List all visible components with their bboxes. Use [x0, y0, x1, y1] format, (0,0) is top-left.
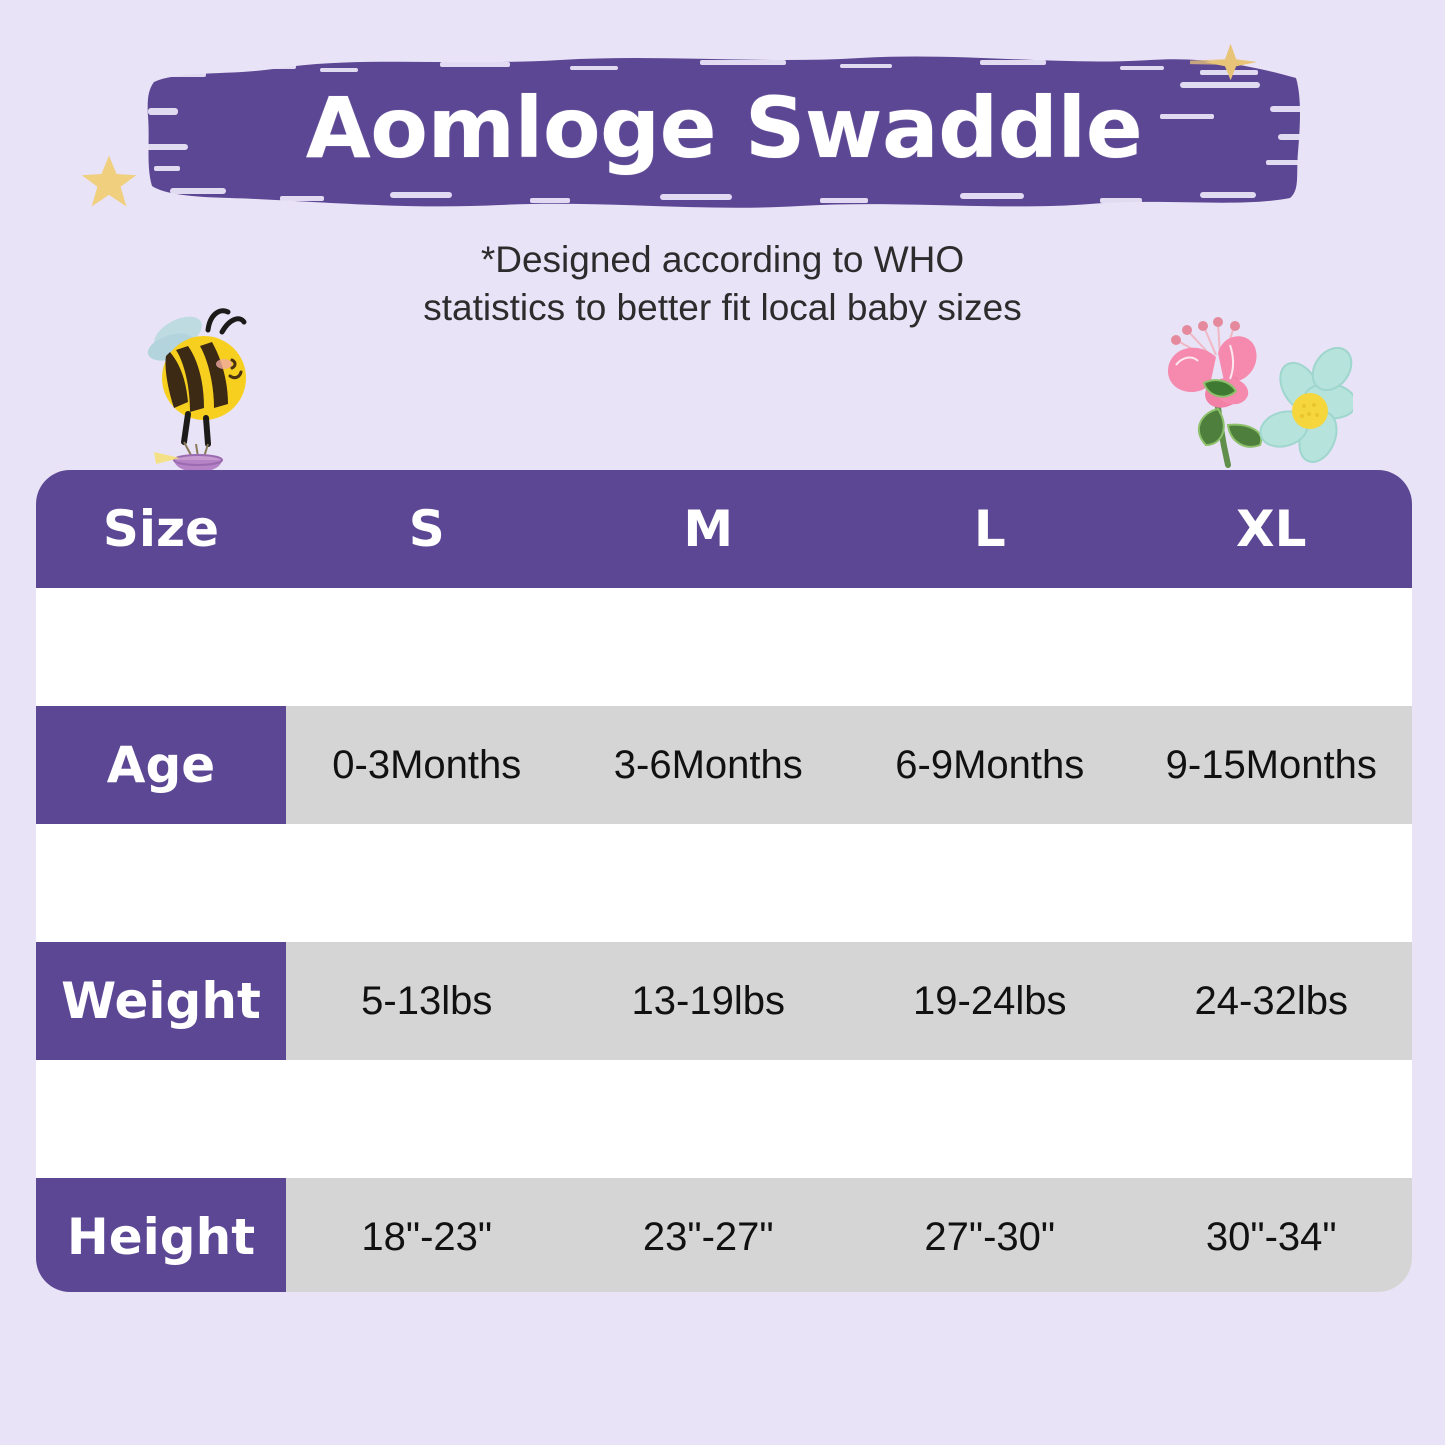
cell-age-s: 0-3Months: [286, 706, 568, 824]
row-cells-age: 0-3Months 3-6Months 6-9Months 9-15Months: [286, 706, 1412, 824]
row-label-age: Age: [36, 706, 286, 824]
row-label-weight: Weight: [36, 942, 286, 1060]
cell-age-xl: 9-15Months: [1131, 706, 1413, 824]
header-cell-l: L: [849, 470, 1131, 588]
shooting-star-icon: [1190, 40, 1260, 84]
subtitle-line-1: *Designed according to WHO: [481, 239, 964, 280]
cell-height-xl: 30"-34": [1131, 1178, 1413, 1292]
table-row-age: Age 0-3Months 3-6Months 6-9Months 9-15Mo…: [36, 706, 1412, 824]
table-spacer-row: [36, 824, 1412, 942]
header-cell-xl: XL: [1131, 470, 1413, 588]
header-cell-size: Size: [36, 470, 286, 588]
cell-weight-l: 19-24lbs: [849, 942, 1131, 1060]
cell-weight-xl: 24-32lbs: [1131, 942, 1413, 1060]
row-label-height: Height: [36, 1178, 286, 1292]
title-banner: Aomloge Swaddle: [140, 48, 1308, 213]
cell-height-s: 18"-23": [286, 1178, 568, 1292]
page-title: Aomloge Swaddle: [140, 48, 1308, 213]
size-chart-page: Aomloge Swaddle *Designed according to W…: [0, 0, 1445, 1445]
cell-weight-m: 13-19lbs: [568, 942, 850, 1060]
size-chart-table: Size S M L XL Age 0-3Months 3-6Months 6-…: [36, 470, 1412, 1292]
cell-age-m: 3-6Months: [568, 706, 850, 824]
cell-weight-s: 5-13lbs: [286, 942, 568, 1060]
bee-icon: [136, 302, 268, 477]
flowers-icon: [1148, 305, 1353, 480]
table-row-height: Height 18"-23" 23"-27" 27"-30" 30"-34": [36, 1178, 1412, 1292]
header-cell-s: S: [286, 470, 568, 588]
table-spacer-row: [36, 588, 1412, 706]
row-cells-height: 18"-23" 23"-27" 27"-30" 30"-34": [286, 1178, 1412, 1292]
table-spacer-row: [36, 1060, 1412, 1178]
table-row-weight: Weight 5-13lbs 13-19lbs 19-24lbs 24-32lb…: [36, 942, 1412, 1060]
table-header-row: Size S M L XL: [36, 470, 1412, 588]
cell-height-m: 23"-27": [568, 1178, 850, 1292]
cell-height-l: 27"-30": [849, 1178, 1131, 1292]
row-cells-weight: 5-13lbs 13-19lbs 19-24lbs 24-32lbs: [286, 942, 1412, 1060]
header-cell-m: M: [568, 470, 850, 588]
cell-age-l: 6-9Months: [849, 706, 1131, 824]
header-cells: S M L XL: [286, 470, 1412, 588]
star-icon: [80, 152, 138, 210]
